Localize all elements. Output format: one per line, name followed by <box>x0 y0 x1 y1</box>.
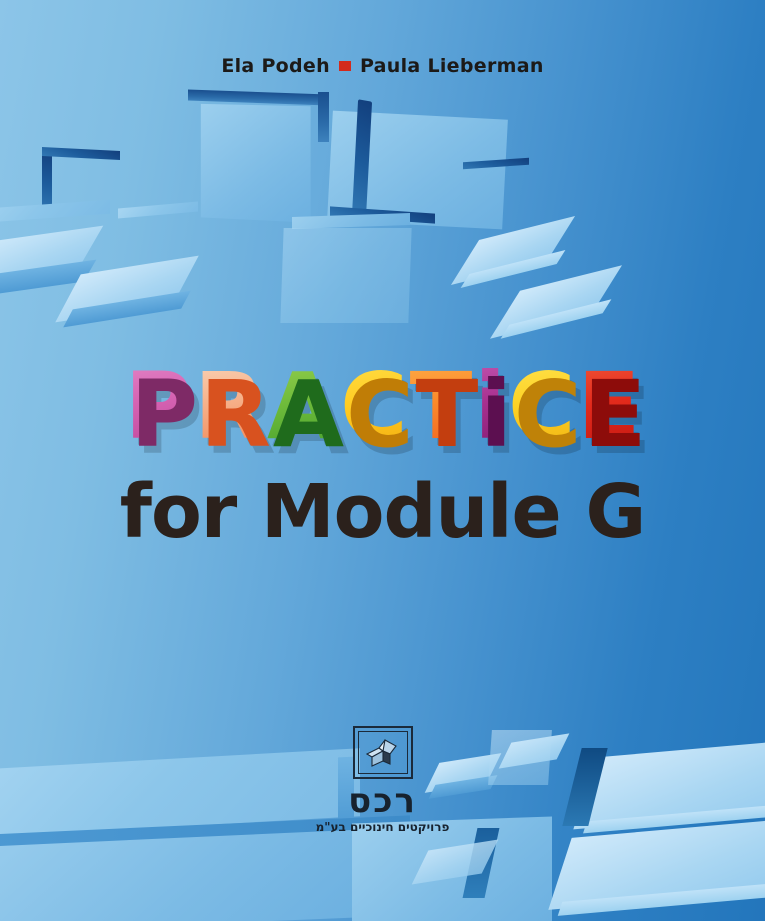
publisher-name: רכס <box>0 783 765 819</box>
bg-slab <box>280 228 411 323</box>
page-title: PRACTiCE <box>0 352 765 472</box>
bg-edge-accent <box>42 147 120 160</box>
bg-slab <box>0 200 110 224</box>
author-separator-icon <box>339 61 351 71</box>
publisher-tagline: פרויקטים חינוכיים בע"מ <box>0 820 765 834</box>
author-first: Ela Podeh <box>221 55 330 77</box>
page-subtitle: for Module G <box>0 470 765 554</box>
publisher-block: רכס פרויקטים חינוכיים בע"מ <box>0 726 765 834</box>
title-letter: A <box>267 352 338 462</box>
title-letter: P <box>125 352 192 462</box>
title-letter: C <box>508 352 576 462</box>
title-letter: R <box>194 352 265 462</box>
bg-edge-accent <box>318 92 329 142</box>
author-second: Paula Lieberman <box>360 55 544 77</box>
title-letter: C <box>340 352 408 462</box>
title-letter: T <box>410 352 473 462</box>
book-cover: Ela PodehPaula Lieberman PRACTiCE for Mo… <box>0 0 765 921</box>
bg-slab-tall <box>201 104 311 223</box>
title-letter: E <box>578 352 641 462</box>
rekhes-arrow-logo-icon <box>353 726 413 779</box>
bg-ledge <box>118 202 198 219</box>
title-letter: i <box>474 352 506 462</box>
authors-line: Ela PodehPaula Lieberman <box>0 55 765 77</box>
